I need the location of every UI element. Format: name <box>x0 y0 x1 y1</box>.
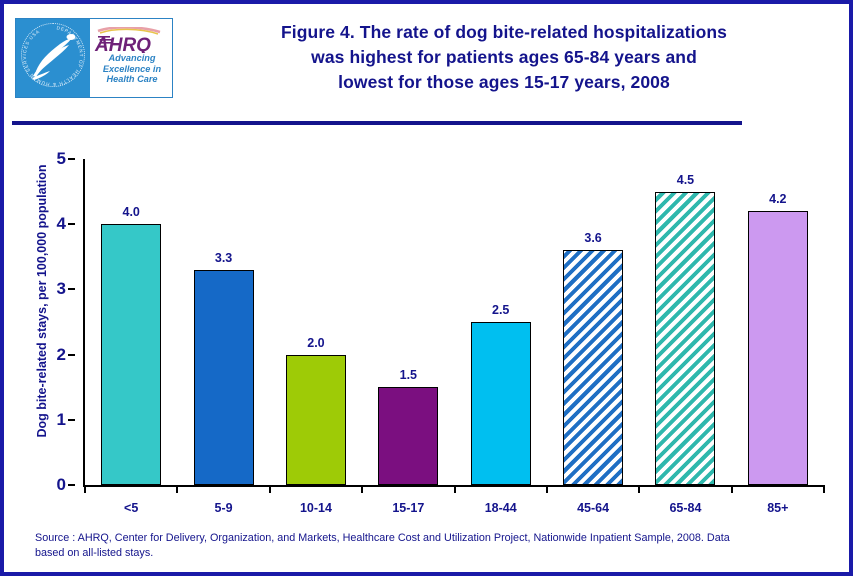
bar-value-label: 2.5 <box>492 303 509 317</box>
y-tick-label: 0 <box>57 475 66 495</box>
figure-title-line2: was highest for patients ages 65-84 year… <box>184 45 824 70</box>
source-note-line2: based on all-listed stays. <box>35 546 830 561</box>
bar-group: 3.6 <box>547 159 639 485</box>
x-tick-mark <box>361 485 363 493</box>
x-tick-label: 45-64 <box>577 501 609 515</box>
x-tick-mark <box>84 485 86 493</box>
figure-page: DEPARTMENT OF HEALTH & HUMAN SERVICES US… <box>0 0 853 576</box>
bar-value-label: 4.5 <box>677 173 694 187</box>
bar-group: 4.2 <box>732 159 824 485</box>
x-tick-label: 65-84 <box>669 501 701 515</box>
svg-text:AHRQ: AHRQ <box>94 35 151 53</box>
x-tick-mark <box>823 485 825 493</box>
bar-group: 4.5 <box>639 159 731 485</box>
bar[interactable] <box>101 224 161 485</box>
ahrq-tagline-line2: Excellence in <box>93 64 171 75</box>
y-tick-label: 4 <box>57 214 66 234</box>
x-tick-label: 85+ <box>767 501 788 515</box>
x-tick-label: 15-17 <box>392 501 424 515</box>
source-note: Source : AHRQ, Center for Delivery, Orga… <box>35 531 830 561</box>
x-axis-labels: <55-910-1415-1718-4445-6465-8485+ <box>85 501 824 525</box>
y-tick-label: 2 <box>57 345 66 365</box>
bar-value-label: 1.5 <box>400 368 417 382</box>
y-tick-mark <box>68 419 75 421</box>
figure-title-line3: lowest for those ages 15-17 years, 2008 <box>184 70 824 95</box>
y-tick-label: 3 <box>57 279 66 299</box>
ahrq-tagline-line1: Advancing <box>93 53 171 64</box>
ahrq-wordmark-block: AHRQ Advancing Excellence in Health Care <box>90 19 172 97</box>
x-tick-mark <box>638 485 640 493</box>
x-tick-mark <box>731 485 733 493</box>
y-tick-mark <box>68 354 75 356</box>
bar[interactable] <box>748 211 808 485</box>
bar-value-label: 3.6 <box>584 231 601 245</box>
figure-title-line1: Figure 4. The rate of dog bite-related h… <box>184 20 824 45</box>
y-tick-mark <box>68 484 75 486</box>
ahrq-tagline-line3: Health Care <box>93 74 171 85</box>
bar-value-label: 4.0 <box>122 205 139 219</box>
bar-chart: Dog bite-related stays, per 100,000 popu… <box>4 129 849 524</box>
bar[interactable] <box>378 387 438 485</box>
ahrq-logo: DEPARTMENT OF HEALTH & HUMAN SERVICES US… <box>15 18 173 98</box>
y-tick-label: 1 <box>57 410 66 430</box>
y-tick-mark <box>68 158 75 160</box>
bar[interactable] <box>471 322 531 485</box>
x-tick-label: 18-44 <box>485 501 517 515</box>
bar[interactable] <box>286 355 346 485</box>
figure-title: Figure 4. The rate of dog bite-related h… <box>184 20 824 95</box>
header-divider <box>12 121 742 125</box>
hhs-seal-icon: DEPARTMENT OF HEALTH & HUMAN SERVICES US… <box>16 19 90 97</box>
bar-group: 2.0 <box>270 159 362 485</box>
y-axis-ticks: 012345 <box>44 159 76 484</box>
bar-group: 4.0 <box>85 159 177 485</box>
bar-value-label: 4.2 <box>769 192 786 206</box>
y-tick-label: 5 <box>57 149 66 169</box>
bar[interactable] <box>563 250 623 485</box>
ahrq-tagline: Advancing Excellence in Health Care <box>93 53 171 85</box>
bars-container: 4.03.32.01.52.53.64.54.2 <box>85 159 824 485</box>
y-tick-mark <box>68 288 75 290</box>
x-tick-label: 5-9 <box>215 501 233 515</box>
x-tick-label: 10-14 <box>300 501 332 515</box>
bar-group: 2.5 <box>455 159 547 485</box>
figure-header: DEPARTMENT OF HEALTH & HUMAN SERVICES US… <box>4 4 849 109</box>
bar-value-label: 2.0 <box>307 336 324 350</box>
ahrq-wordmark-icon: AHRQ <box>94 27 170 53</box>
hhs-bird-icon <box>30 31 78 81</box>
source-note-line1: Source : AHRQ, Center for Delivery, Orga… <box>35 531 830 546</box>
bar[interactable] <box>655 192 715 485</box>
x-tick-mark <box>454 485 456 493</box>
x-tick-mark <box>176 485 178 493</box>
bar[interactable] <box>194 270 254 485</box>
bar-group: 1.5 <box>362 159 454 485</box>
bar-value-label: 3.3 <box>215 251 232 265</box>
y-tick-mark <box>68 223 75 225</box>
x-tick-label: <5 <box>124 501 138 515</box>
x-tick-mark <box>269 485 271 493</box>
bar-group: 3.3 <box>177 159 269 485</box>
x-tick-mark <box>546 485 548 493</box>
